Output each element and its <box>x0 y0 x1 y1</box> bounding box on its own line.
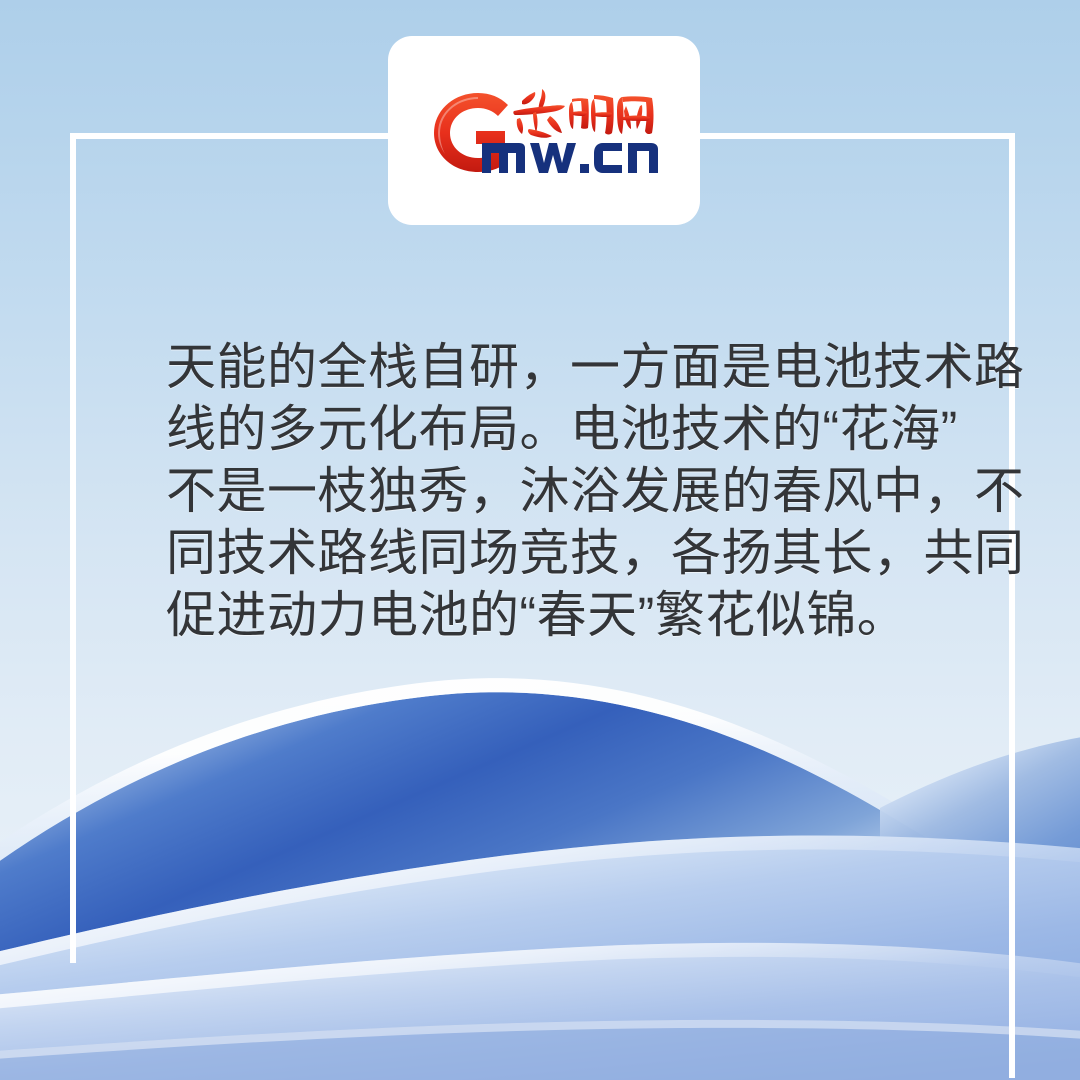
body-copy-line: 天能的全栈自研，一方面是电池技术路 <box>166 336 956 398</box>
body-copy-line: 同技术路线同场竞技，各扬其长，共同 <box>166 522 956 584</box>
decorative-frame-left-edge <box>70 133 76 945</box>
poster-root: 天能的全栈自研，一方面是电池技术路 线的多元化布局。电池技术的“花海” 不是一枝… <box>0 0 1080 1080</box>
guangming-logo-icon <box>426 85 662 177</box>
body-copy-line: 促进动力电池的“春天”繁花似锦。 <box>166 584 956 646</box>
body-copy: 天能的全栈自研，一方面是电池技术路 线的多元化布局。电池技术的“花海” 不是一枝… <box>166 336 956 646</box>
body-copy-line: 线的多元化布局。电池技术的“花海” <box>166 398 956 460</box>
brand-logo-card <box>388 36 700 225</box>
decorative-frame-right-edge <box>1009 133 1015 1078</box>
body-copy-line: 不是一枝独秀，沐浴发展的春风中，不 <box>166 460 956 522</box>
